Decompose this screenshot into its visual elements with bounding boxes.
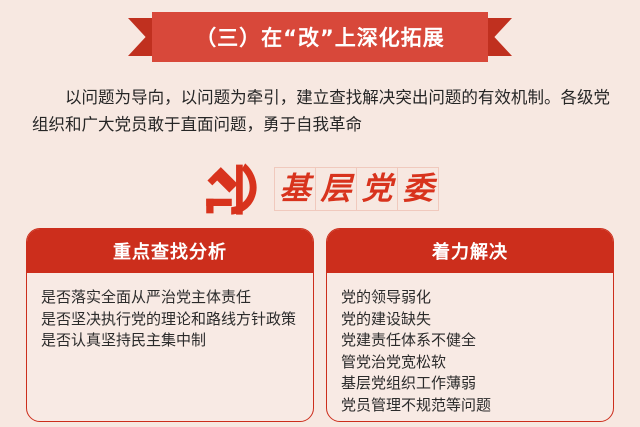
panel-line: 是否落实全面从严治党主体责任: [41, 287, 313, 309]
panel-header: 着力解决: [327, 229, 613, 273]
emblem-char: 委: [403, 174, 434, 205]
panel-line: 是否认真坚持民主集中制: [41, 330, 313, 352]
panel-line: 党的建设缺失: [341, 309, 613, 331]
panel-line: 党的领导弱化: [341, 287, 613, 309]
emblem-char: 层: [321, 174, 352, 205]
focused-resolution-panel: 着力解决 党的领导弱化 党的建设缺失 党建责任体系不健全 管党治党宽松软 基层党…: [326, 228, 614, 422]
panel-body: 党的领导弱化 党的建设缺失 党建责任体系不健全 管党治党宽松软 基层党组织工作薄…: [327, 273, 613, 421]
emblem-char-cell: 委: [397, 167, 439, 211]
emblem-characters: 基 层 党 委: [274, 167, 438, 211]
banner-body: （三）在“改”上深化拓展: [152, 12, 488, 62]
panel-header-title: 重点查找分析: [113, 238, 227, 264]
panel-body: 是否落实全面从严治党主体责任 是否坚决执行党的理论和路线方针政策 是否认真坚持民…: [27, 273, 313, 421]
emblem-char: 党: [362, 174, 393, 205]
panels-container: 重点查找分析 是否落实全面从严治党主体责任 是否坚决执行党的理论和路线方针政策 …: [26, 228, 614, 422]
hammer-and-sickle-icon: [202, 161, 264, 217]
emblem-char-cell: 层: [315, 167, 357, 211]
emblem-char-cell: 基: [274, 167, 316, 211]
panel-line: 管党治党宽松软: [341, 352, 613, 374]
key-investigation-panel: 重点查找分析 是否落实全面从严治党主体责任 是否坚决执行党的理论和路线方针政策 …: [26, 228, 314, 422]
body-paragraph: 以问题为导向，以问题为牵引，建立查找解决突出问题的有效机制。各级党组织和广大党员…: [32, 84, 610, 138]
panel-line: 基层党组织工作薄弱: [341, 373, 613, 395]
panel-header: 重点查找分析: [27, 229, 313, 273]
panel-line: 党建责任体系不健全: [341, 330, 613, 352]
emblem-section: 基 层 党 委: [0, 160, 640, 218]
panel-header-title: 着力解决: [432, 238, 508, 264]
panel-line: 党员管理不规范等问题: [341, 395, 613, 417]
panel-line: 是否坚决执行党的理论和路线方针政策: [41, 309, 313, 331]
emblem-char: 基: [280, 174, 311, 205]
emblem-char-cell: 党: [356, 167, 398, 211]
banner-title: （三）在“改”上深化拓展: [195, 22, 445, 52]
title-banner: （三）在“改”上深化拓展: [0, 12, 640, 62]
